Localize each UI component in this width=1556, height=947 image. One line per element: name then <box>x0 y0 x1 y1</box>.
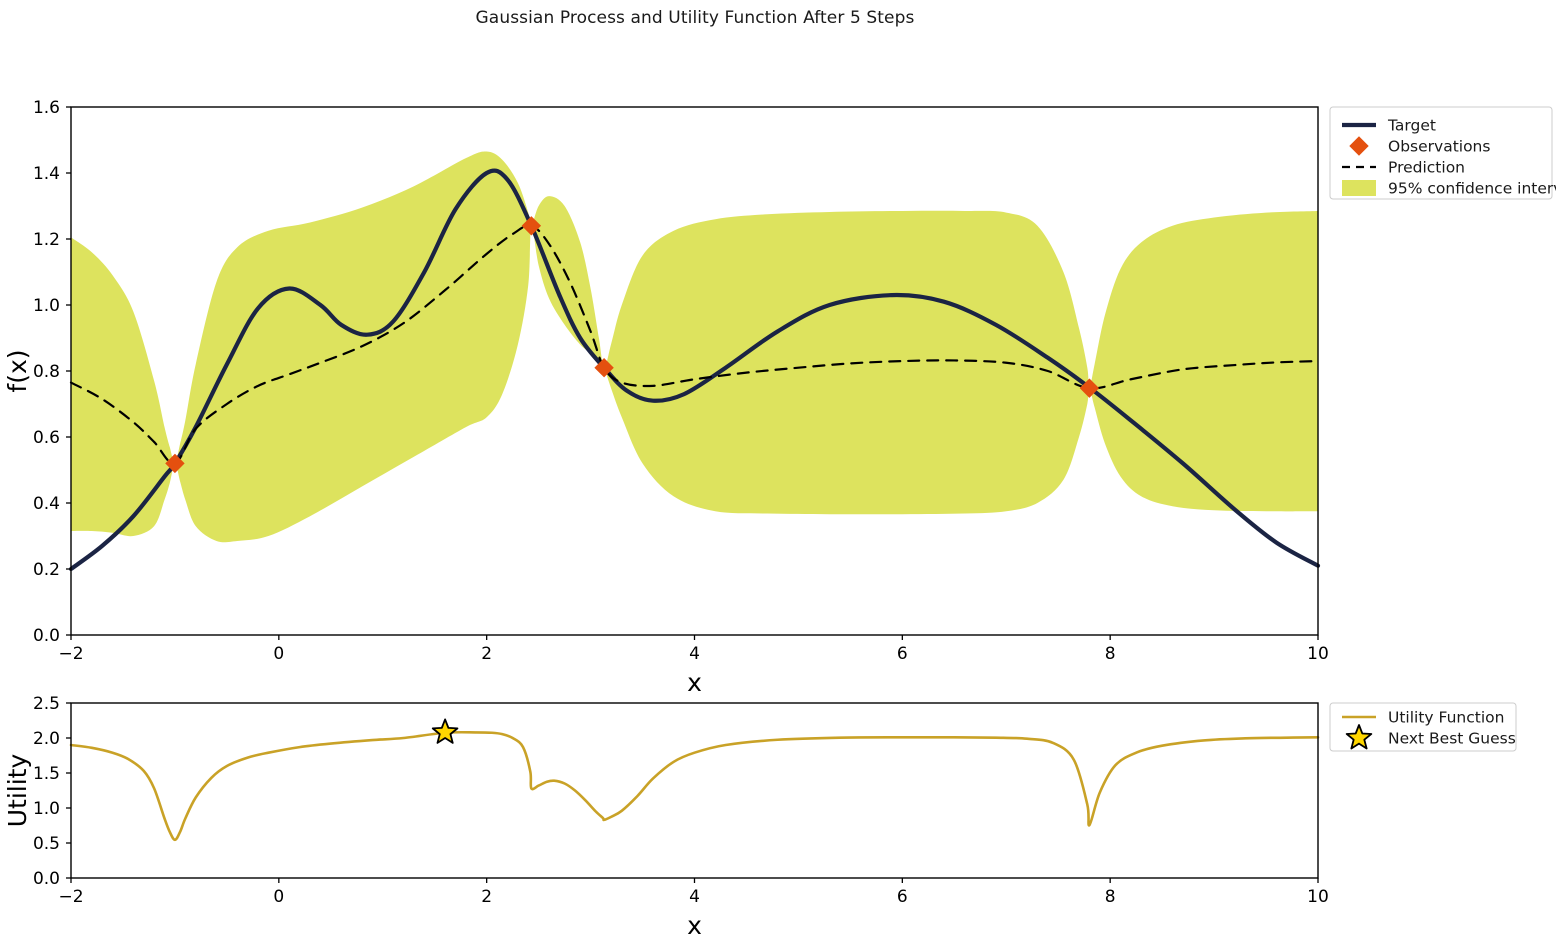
gaussian-process-subplot: −202468100.00.20.40.60.81.01.21.41.6xf(x… <box>3 98 1556 697</box>
x-tick-label: −2 <box>58 644 83 664</box>
utility-function-subplot: −202468100.00.51.01.52.02.5xUtilityUtili… <box>3 694 1516 940</box>
y-tick-label: 1.0 <box>33 799 60 819</box>
x-tick-label: 10 <box>1307 887 1329 907</box>
x-axis-label: x <box>687 668 702 697</box>
y-tick-label: 0.0 <box>33 626 60 646</box>
confidence-interval-band <box>71 152 1318 543</box>
y-tick-label: 0.6 <box>33 428 60 448</box>
y-tick-label: 0.0 <box>33 869 60 889</box>
x-tick-label: 6 <box>897 887 908 907</box>
y-tick-label: 1.6 <box>33 98 60 118</box>
x-axis-label: x <box>687 911 702 940</box>
legend-label: Utility Function <box>1388 709 1504 727</box>
y-tick-label: 1.4 <box>33 164 60 184</box>
x-tick-label: 6 <box>897 644 908 664</box>
plot-area: −202468100.00.20.40.60.81.01.21.41.6xf(x… <box>0 0 1556 947</box>
figure-title: Gaussian Process and Utility Function Af… <box>0 8 1390 28</box>
y-tick-label: 0.5 <box>33 834 60 854</box>
y-tick-label: 0.2 <box>33 560 60 580</box>
y-tick-label: 1.5 <box>33 764 60 784</box>
y-axis-label: f(x) <box>3 349 32 392</box>
legend-label: Next Best Guess <box>1388 730 1516 748</box>
x-tick-label: 0 <box>273 644 284 664</box>
x-tick-label: 8 <box>1105 644 1116 664</box>
figure-canvas: Gaussian Process and Utility Function Af… <box>0 0 1556 947</box>
x-tick-label: 8 <box>1105 887 1116 907</box>
next-best-guess-marker <box>433 719 458 743</box>
x-tick-label: −2 <box>58 887 83 907</box>
y-tick-label: 1.0 <box>33 296 60 316</box>
x-tick-label: 10 <box>1307 644 1329 664</box>
x-tick-label: 2 <box>481 644 492 664</box>
x-tick-label: 0 <box>273 887 284 907</box>
y-tick-label: 0.4 <box>33 494 60 514</box>
y-tick-label: 2.0 <box>33 729 60 749</box>
utility-function-line <box>71 732 1318 840</box>
legend-swatch-area <box>1342 180 1376 196</box>
y-tick-label: 2.5 <box>33 694 60 714</box>
x-tick-label: 4 <box>689 644 700 664</box>
legend-label: Observations <box>1388 138 1490 156</box>
legend-label: 95% confidence interval <box>1388 180 1556 198</box>
x-tick-label: 4 <box>689 887 700 907</box>
x-tick-label: 2 <box>481 887 492 907</box>
legend-label: Prediction <box>1388 159 1465 177</box>
axes-frame <box>71 703 1318 878</box>
y-axis-label: Utility <box>3 754 32 828</box>
y-tick-label: 1.2 <box>33 230 60 250</box>
legend-label: Target <box>1387 117 1436 135</box>
y-tick-label: 0.8 <box>33 362 60 382</box>
